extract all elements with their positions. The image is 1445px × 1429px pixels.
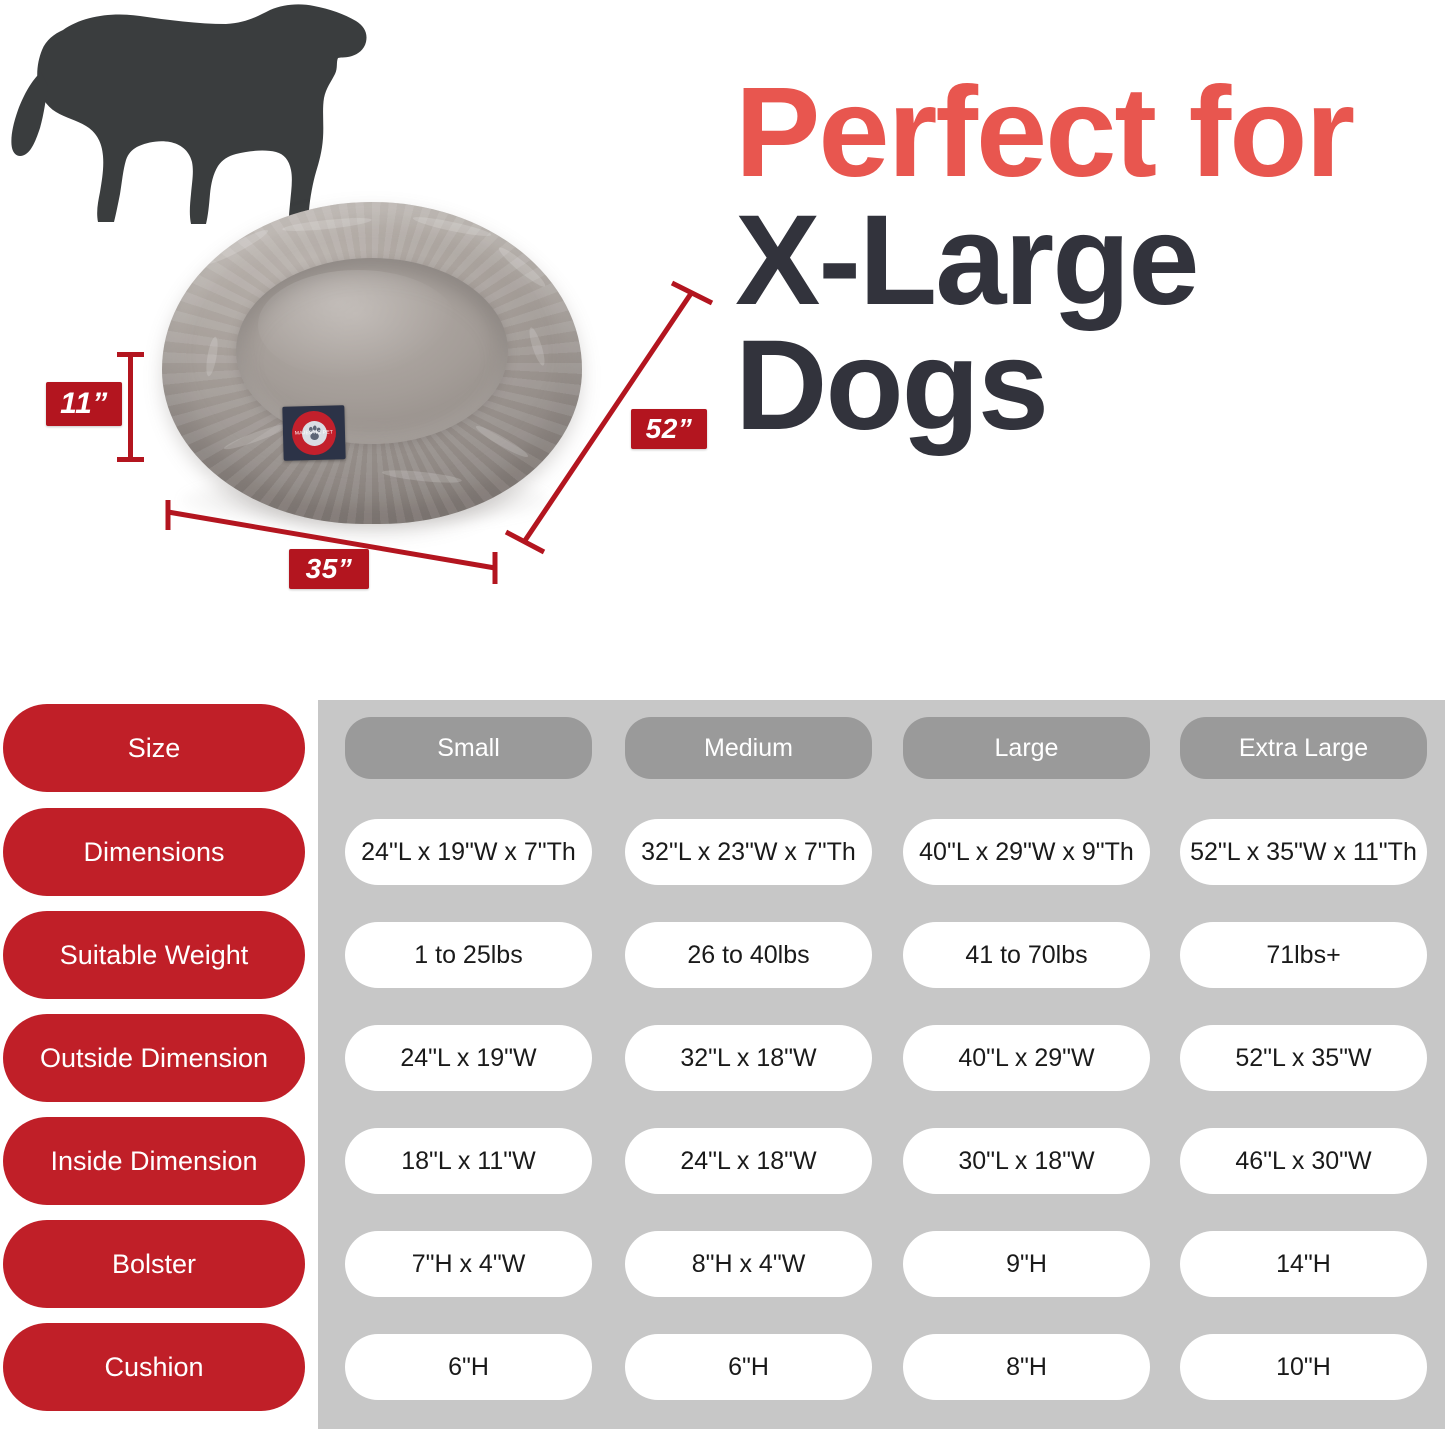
headline: Perfect for X-Large Dogs (735, 74, 1440, 449)
table-cell: 24"L x 18"W (625, 1128, 872, 1194)
hero-section: MAJESTIC PET 11” 52” (0, 0, 1445, 680)
table-cell: 1 to 25lbs (345, 922, 592, 988)
headline-line-3: Dogs (735, 323, 1440, 448)
table-cell: 8"H x 4"W (625, 1231, 872, 1297)
table-cell: 24"L x 19"W x 7"Th (345, 819, 592, 885)
table-cell: 41 to 70lbs (903, 922, 1150, 988)
headline-line-1: Perfect for (735, 74, 1440, 192)
column-header-small: Small (345, 717, 592, 779)
bed-cushion-highlight (258, 270, 458, 380)
table-cell: 32"L x 23"W x 7"Th (625, 819, 872, 885)
width-measurement-label: 35” (289, 549, 369, 589)
specification-table: SizeDimensionsSuitable WeightOutside Dim… (0, 684, 1445, 1429)
logo-badge: MAJESTIC PET (291, 410, 336, 455)
table-cell: 52"L x 35"W x 11"Th (1180, 819, 1427, 885)
table-cell: 6"H (345, 1334, 592, 1400)
table-cell: 52"L x 35"W (1180, 1025, 1427, 1091)
headline-line-2: X-Large (735, 198, 1440, 323)
length-measurement-label: 52” (631, 409, 707, 449)
height-dimension-line (128, 352, 133, 462)
table-cell: 71lbs+ (1180, 922, 1427, 988)
table-cell: 32"L x 18"W (625, 1025, 872, 1091)
table-cell: 6"H (625, 1334, 872, 1400)
table-cell: 46"L x 30"W (1180, 1128, 1427, 1194)
table-cell: 18"L x 11"W (345, 1128, 592, 1194)
table-cells: SmallMediumLargeExtra Large24"L x 19"W x… (0, 684, 1445, 1429)
height-dimension-tick-top (117, 352, 144, 357)
column-header-large: Large (903, 717, 1150, 779)
column-header-extra-large: Extra Large (1180, 717, 1427, 779)
table-cell: 24"L x 19"W (345, 1025, 592, 1091)
column-header-medium: Medium (625, 717, 872, 779)
table-cell: 26 to 40lbs (625, 922, 872, 988)
table-cell: 30"L x 18"W (903, 1128, 1150, 1194)
height-measurement-label: 11” (46, 382, 122, 426)
table-cell: 10"H (1180, 1334, 1427, 1400)
table-cell: 14"H (1180, 1231, 1427, 1297)
table-cell: 8"H (903, 1334, 1150, 1400)
table-cell: 40"L x 29"W (903, 1025, 1150, 1091)
table-cell: 9"H (903, 1231, 1150, 1297)
height-dimension-tick-bottom (117, 457, 144, 462)
table-cell: 40"L x 29"W x 9"Th (903, 819, 1150, 885)
logo-text: MAJESTIC PET (292, 429, 336, 436)
majestic-pet-logo: MAJESTIC PET (282, 405, 345, 461)
table-cell: 7"H x 4"W (345, 1231, 592, 1297)
